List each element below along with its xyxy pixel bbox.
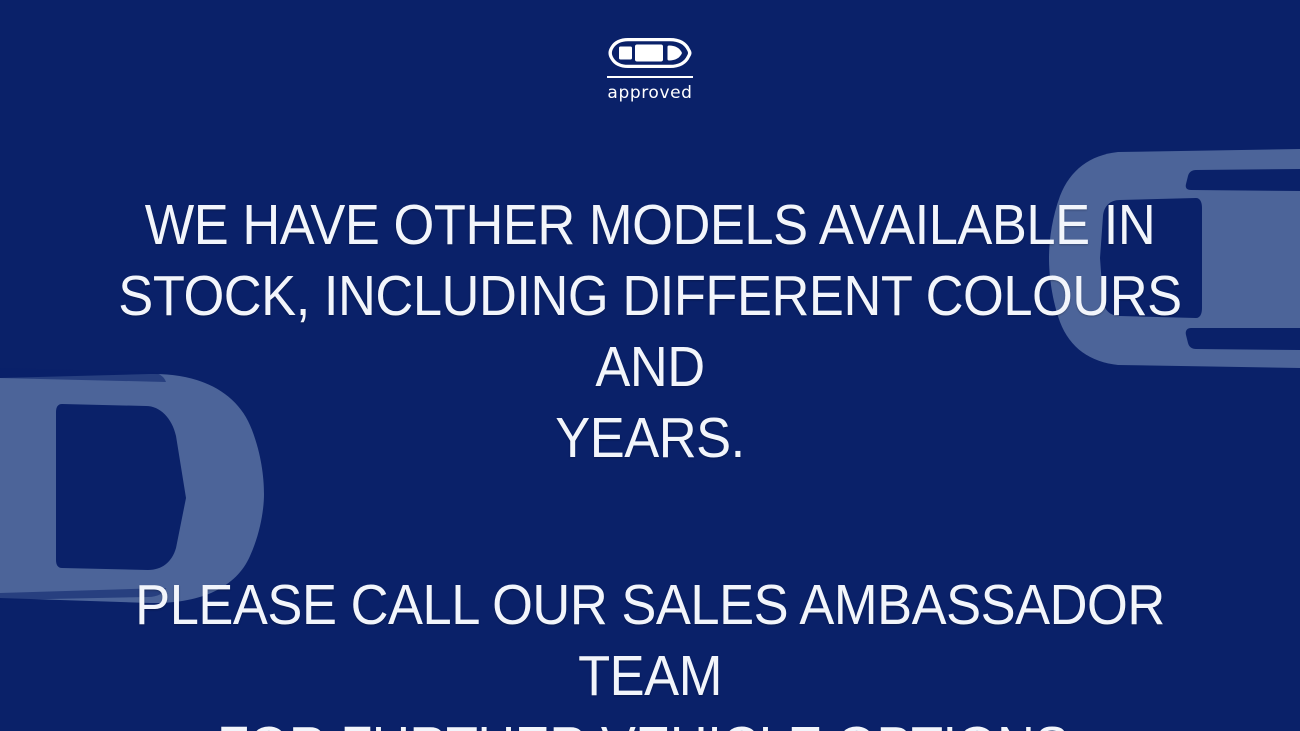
message-block: WE HAVE OTHER MODELS AVAILABLE IN STOCK,… (0, 190, 1300, 731)
logo-divider (607, 76, 693, 78)
headline-line-4: PLEASE CALL OUR SALES AMBASSADOR TEAM (107, 570, 1193, 712)
headline-line-5: FOR FURTHER VEHICLE OPTIONS. (107, 712, 1193, 731)
promo-slide: approved WE HAVE OTHER MODELS AVAILABLE … (0, 0, 1300, 731)
headline-paragraph-one: WE HAVE OTHER MODELS AVAILABLE IN STOCK,… (52, 190, 1248, 474)
headline-line-2: STOCK, INCLUDING DIFFERENT COLOURS AND (107, 261, 1193, 403)
headline-line-3: YEARS. (107, 403, 1193, 474)
headline-line-1: WE HAVE OTHER MODELS AVAILABLE IN (107, 190, 1193, 261)
headline-paragraph-two: PLEASE CALL OUR SALES AMBASSADOR TEAM FO… (52, 570, 1248, 731)
car-top-view-icon (608, 36, 692, 70)
brand-logo: approved (0, 36, 1300, 102)
logo-wordmark: approved (607, 85, 692, 102)
